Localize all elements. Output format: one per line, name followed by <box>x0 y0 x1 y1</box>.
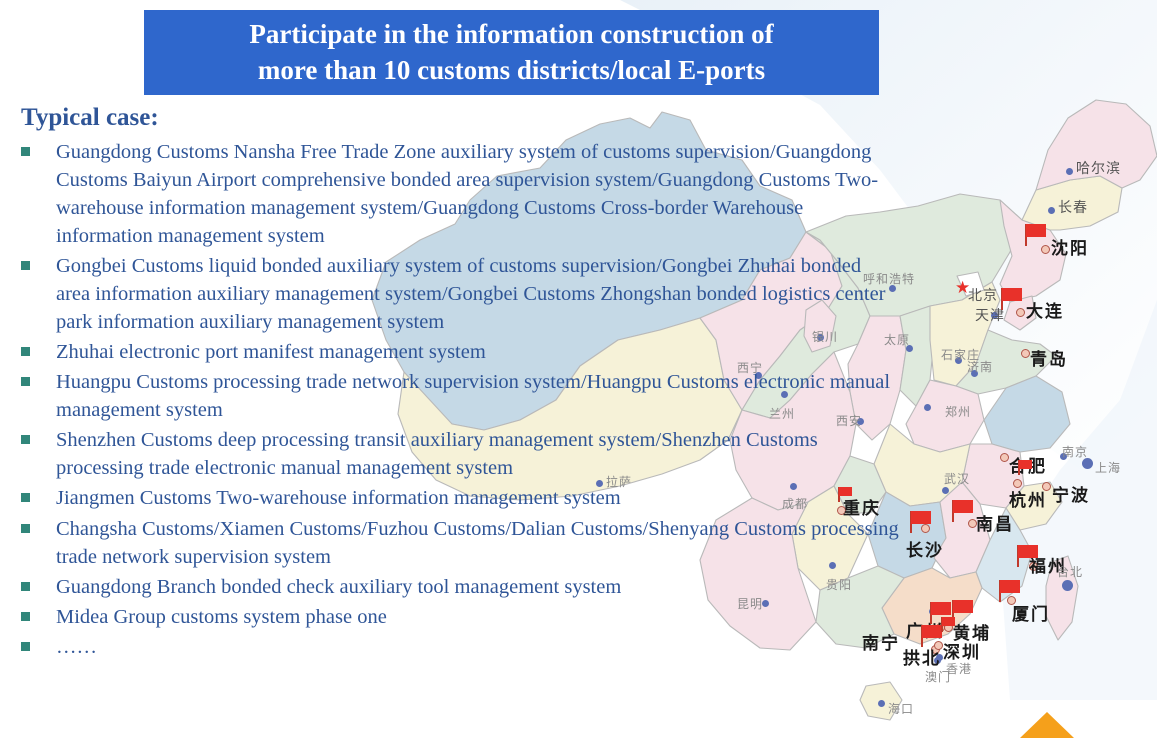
bullet-square-icon <box>21 612 30 621</box>
city-label: 上海 <box>1095 459 1121 476</box>
slide-content: Typical case: Guangdong Customs Nansha F… <box>0 104 900 663</box>
city-label: 郑州 <box>945 403 971 420</box>
city-dot-icon <box>1021 349 1030 358</box>
case-list-item: …… <box>0 633 900 661</box>
city-label: 厦门 <box>1012 600 1050 625</box>
city-dot-icon <box>1016 308 1025 317</box>
case-list-item: Zhuhai electronic port manifest manageme… <box>0 338 900 366</box>
city-dot-icon <box>921 524 930 533</box>
bullet-square-icon <box>21 261 30 270</box>
case-list-item-text: Guangdong Customs Nansha Free Trade Zone… <box>56 141 878 247</box>
case-list-item: Gongbei Customs liquid bonded auxiliary … <box>0 252 900 336</box>
capital-star-icon: ★ <box>955 279 970 296</box>
city-dot-icon <box>1000 453 1009 462</box>
city-label: 杭州 <box>1009 486 1047 511</box>
city-label: 沈阳 <box>1051 234 1089 259</box>
case-list-item-text: …… <box>56 636 97 658</box>
case-list-item-text: Changsha Customs/Xiamen Customs/Fuzhou C… <box>56 518 899 568</box>
city-label: 长春 <box>1058 197 1088 217</box>
city-label: 拱北 <box>903 644 941 669</box>
case-list: Guangdong Customs Nansha Free Trade Zone… <box>0 138 900 661</box>
bullet-square-icon <box>21 347 30 356</box>
bullet-square-icon <box>21 377 30 386</box>
city-label: 大连 <box>1026 297 1064 322</box>
case-list-item-text: Gongbei Customs liquid bonded auxiliary … <box>56 255 886 333</box>
slide-title-text: Participate in the information construct… <box>237 17 785 87</box>
city-label: 南京 <box>1062 443 1088 460</box>
case-list-item: Midea Group customs system phase one <box>0 603 900 631</box>
case-list-item-text: Guangdong Branch bonded check auxiliary … <box>56 576 621 598</box>
city-dot-icon <box>1041 245 1050 254</box>
bullet-square-icon <box>21 493 30 502</box>
city-label: 南昌 <box>976 510 1014 535</box>
city-label: 台北 <box>1057 563 1083 580</box>
case-list-item: Changsha Customs/Xiamen Customs/Fuzhou C… <box>0 515 900 571</box>
orange-triangle-marker <box>1020 712 1074 738</box>
city-label: 北京 <box>968 285 998 305</box>
city-dot-icon <box>878 700 885 707</box>
bullet-square-icon <box>21 582 30 591</box>
case-list-item-text: Midea Group customs system phase one <box>56 606 387 628</box>
city-label: 哈尔滨 <box>1076 158 1121 178</box>
city-label: 济南 <box>967 358 993 375</box>
case-list-item-text: Shenzhen Customs deep processing transit… <box>56 429 818 479</box>
section-heading: Typical case: <box>21 104 900 132</box>
city-dot-icon <box>1062 580 1073 591</box>
bullet-square-icon <box>21 147 30 156</box>
city-dot-icon <box>924 404 931 411</box>
city-dot-icon <box>1048 207 1055 214</box>
city-dot-icon <box>942 487 949 494</box>
city-label: 海口 <box>888 700 914 717</box>
case-list-item-text: Jiangmen Customs Two-warehouse informati… <box>56 487 621 509</box>
case-list-item-text: Huangpu Customs processing trade network… <box>56 371 890 421</box>
city-label: 长沙 <box>906 536 944 561</box>
bullet-square-icon <box>21 524 30 533</box>
city-dot-icon <box>1066 168 1073 175</box>
bullet-square-icon <box>21 435 30 444</box>
case-list-item: Shenzhen Customs deep processing transit… <box>0 426 900 482</box>
city-label: 宁波 <box>1052 481 1090 506</box>
city-label: 武汉 <box>944 470 970 487</box>
case-list-item: Huangpu Customs processing trade network… <box>0 368 900 424</box>
case-list-item-text: Zhuhai electronic port manifest manageme… <box>56 341 486 363</box>
city-label: 青岛 <box>1030 345 1068 370</box>
case-list-item: Jiangmen Customs Two-warehouse informati… <box>0 484 900 512</box>
case-list-item: Guangdong Branch bonded check auxiliary … <box>0 573 900 601</box>
slide-title-line2: more than 10 customs districts/local E-p… <box>258 55 765 85</box>
city-label: 澳门 <box>925 668 951 685</box>
case-list-item: Guangdong Customs Nansha Free Trade Zone… <box>0 138 900 250</box>
bullet-square-icon <box>21 642 30 651</box>
slide-title-banner: Participate in the information construct… <box>144 10 879 95</box>
slide-title-line1: Participate in the information construct… <box>249 19 773 49</box>
